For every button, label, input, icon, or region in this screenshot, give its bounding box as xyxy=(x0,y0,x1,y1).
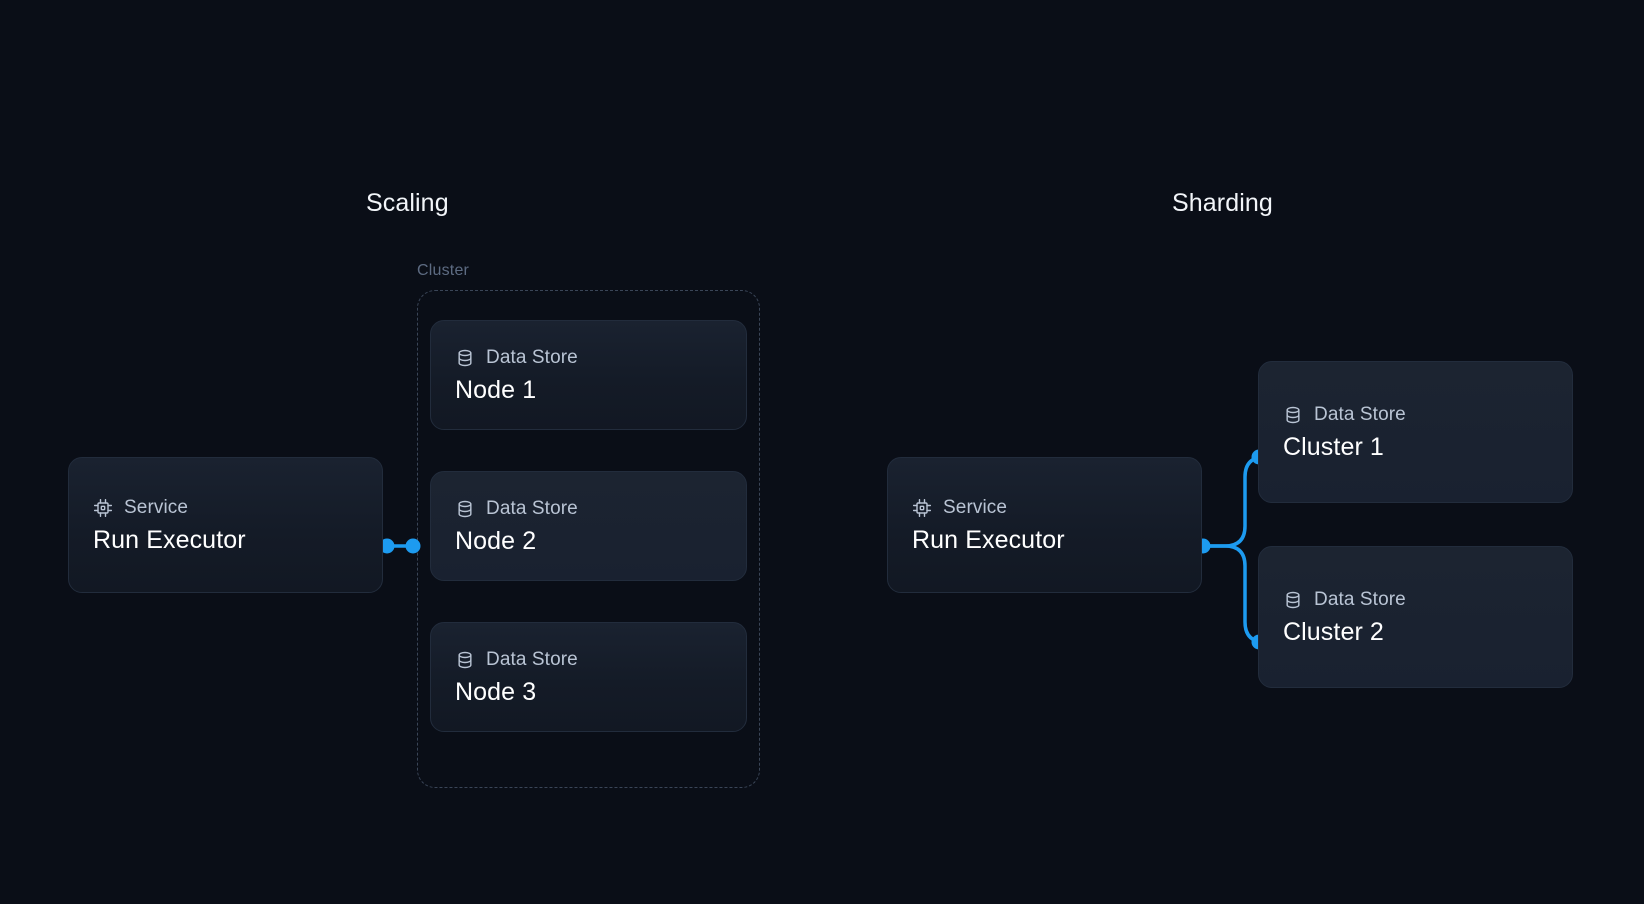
cpu-chip-icon xyxy=(93,498,113,518)
node-type-label: Data Store xyxy=(486,499,578,518)
node-type-label: Data Store xyxy=(1314,590,1406,609)
database-icon xyxy=(455,499,475,519)
node-type-row: Data Store xyxy=(1283,405,1548,425)
node-title: Run Executor xyxy=(912,526,1177,555)
node-type-row: Service xyxy=(93,498,358,518)
node-title: Cluster 1 xyxy=(1283,433,1548,462)
node-card-cluster-2[interactable]: Data Store Cluster 2 xyxy=(1258,546,1573,688)
node-type-label: Data Store xyxy=(486,650,578,669)
cluster-group-label: Cluster xyxy=(417,262,469,280)
node-title: Cluster 2 xyxy=(1283,618,1548,647)
node-type-label: Data Store xyxy=(486,348,578,367)
node-title: Run Executor xyxy=(93,526,358,555)
node-type-label: Service xyxy=(943,498,1007,517)
node-type-row: Service xyxy=(912,498,1177,518)
database-icon xyxy=(455,348,475,368)
node-type-row: Data Store xyxy=(1283,590,1548,610)
node-title: Node 3 xyxy=(455,678,722,707)
node-type-row: Data Store xyxy=(455,499,722,519)
cpu-chip-icon xyxy=(912,498,932,518)
node-card-cluster-1[interactable]: Data Store Cluster 1 xyxy=(1258,361,1573,503)
node-title: Node 1 xyxy=(455,376,722,405)
node-type-row: Data Store xyxy=(455,348,722,368)
node-title: Node 2 xyxy=(455,527,722,556)
database-icon xyxy=(1283,405,1303,425)
node-type-label: Data Store xyxy=(1314,405,1406,424)
node-card-node-2[interactable]: Data Store Node 2 xyxy=(430,471,747,581)
diagram-canvas: Scaling Sharding Cluster xyxy=(0,0,1644,904)
node-card-run-executor-scaling[interactable]: Service Run Executor xyxy=(68,457,383,593)
edge-run-executor-to-cluster xyxy=(380,539,421,554)
node-type-label: Service xyxy=(124,498,188,517)
node-card-node-1[interactable]: Data Store Node 1 xyxy=(430,320,747,430)
database-icon xyxy=(455,650,475,670)
node-card-run-executor-sharding[interactable]: Service Run Executor xyxy=(887,457,1202,593)
node-card-node-3[interactable]: Data Store Node 3 xyxy=(430,622,747,732)
node-type-row: Data Store xyxy=(455,650,722,670)
section-title-scaling: Scaling xyxy=(366,189,449,218)
database-icon xyxy=(1283,590,1303,610)
section-title-sharding: Sharding xyxy=(1172,189,1273,218)
